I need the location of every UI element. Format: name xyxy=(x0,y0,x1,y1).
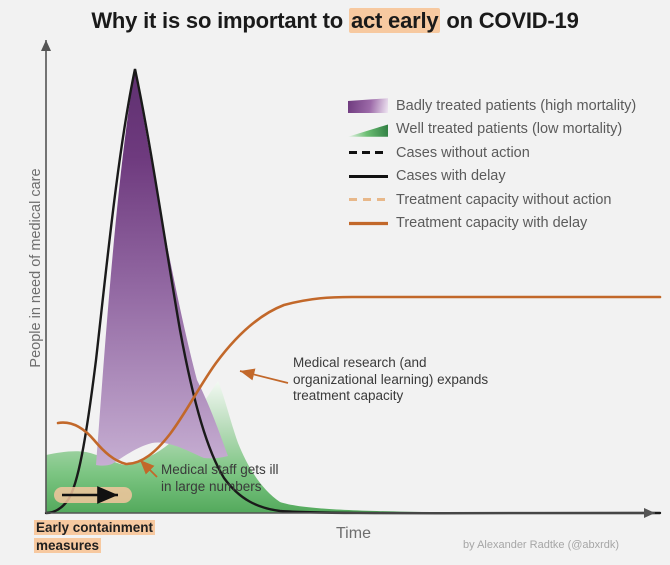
chart-svg xyxy=(0,0,670,565)
annotation-line: Medical staff gets ill xyxy=(161,462,279,479)
legend-item-capacity-without-action[interactable]: Treatment capacity without action xyxy=(348,188,668,212)
early-containment-line2: measures xyxy=(34,538,101,553)
x-axis-label: Time xyxy=(336,525,371,543)
annotation-line: in large numbers xyxy=(161,479,279,496)
area-badly-treated xyxy=(96,69,228,466)
legend-item-badly-treated[interactable]: Badly treated patients (high mortality) xyxy=(348,94,668,118)
dashed-orange-line-icon xyxy=(348,192,388,207)
annotation-line: treatment capacity xyxy=(293,388,488,405)
early-containment-arrow xyxy=(54,487,132,503)
legend-label: Badly treated patients (high mortality) xyxy=(396,98,636,114)
solid-black-line-icon xyxy=(348,169,388,184)
area-swatch-green-icon xyxy=(348,122,388,137)
area-swatch-purple-icon xyxy=(348,98,388,113)
credit-text: by Alexander Radtke (@abxrdk) xyxy=(463,539,619,551)
legend-label: Well treated patients (low mortality) xyxy=(396,121,622,137)
annotation-line: organizational learning) expands xyxy=(293,372,488,389)
annotation-early-containment: Early containment measures xyxy=(34,519,155,555)
legend-label: Cases without action xyxy=(396,145,530,161)
solid-orange-line-icon xyxy=(348,216,388,231)
y-axis-label: People in need of medical care xyxy=(28,128,44,408)
dashed-black-line-icon xyxy=(348,145,388,160)
early-containment-line1: Early containment xyxy=(34,520,155,535)
legend-label: Treatment capacity with delay xyxy=(396,215,587,231)
annotation-leader-research xyxy=(240,371,288,383)
annotation-medical-staff-ill: Medical staff gets ill in large numbers xyxy=(161,462,279,495)
legend-label: Cases with delay xyxy=(396,168,506,184)
legend-label: Treatment capacity without action xyxy=(396,192,611,208)
legend-item-capacity-with-delay[interactable]: Treatment capacity with delay xyxy=(348,212,668,236)
annotation-medical-research: Medical research (and organizational lea… xyxy=(293,355,488,405)
legend: Badly treated patients (high mortality) … xyxy=(348,94,668,235)
legend-item-well-treated[interactable]: Well treated patients (low mortality) xyxy=(348,118,668,142)
legend-item-cases-without-action[interactable]: Cases without action xyxy=(348,141,668,165)
annotation-line: Medical research (and xyxy=(293,355,488,372)
chart-canvas: Why it is so important to act early on C… xyxy=(0,0,670,565)
legend-item-cases-with-delay[interactable]: Cases with delay xyxy=(348,165,668,189)
